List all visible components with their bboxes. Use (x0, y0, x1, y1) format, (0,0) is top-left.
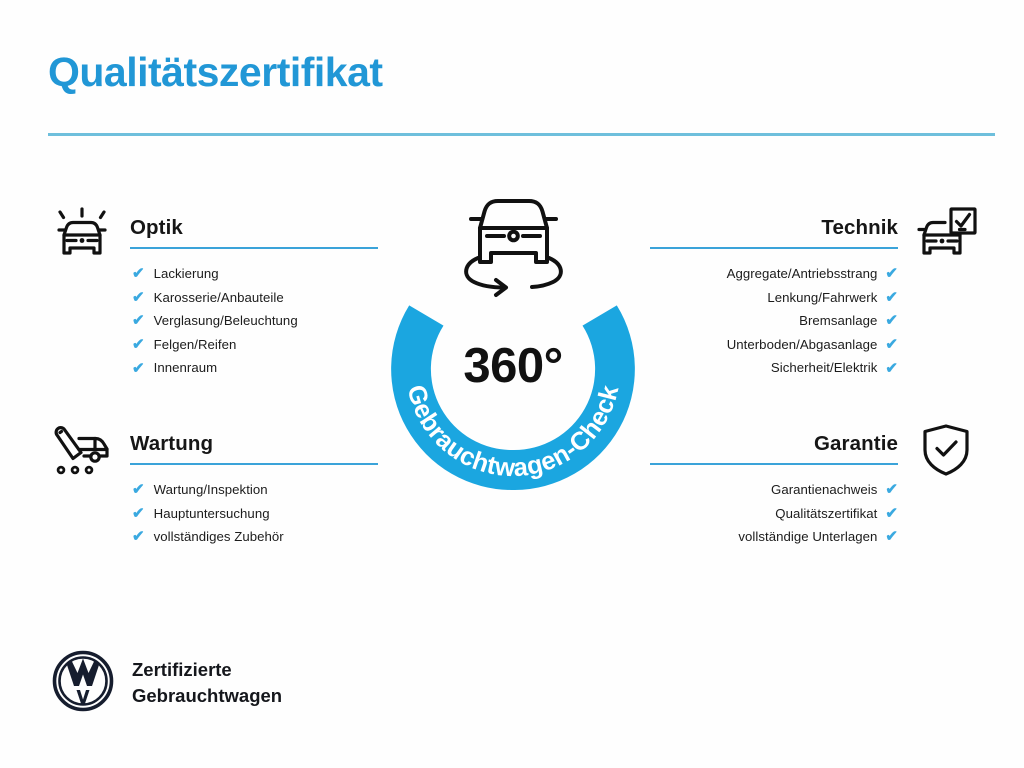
check-icon: ✔ (132, 266, 145, 281)
check-icon: ✔ (885, 313, 898, 328)
page-title: Qualitätszertifikat (48, 50, 383, 95)
list-item-label: vollständige Unterlagen (738, 525, 877, 549)
gebrauchtwagen-check-badge: Gebrauchtwagen-Check 360° (374, 190, 652, 490)
list-item-label: Bremsanlage (799, 309, 877, 333)
footer-logo: Zertifizierte Gebrauchtwagen (52, 650, 452, 724)
list-item-label: Wartung/Inspektion (154, 478, 268, 502)
check-icon: ✔ (885, 482, 898, 497)
check-icon: ✔ (132, 482, 145, 497)
list-item-label: Qualitätszertifikat (775, 502, 877, 526)
section-title: Optik (130, 216, 183, 240)
section-divider (130, 463, 378, 465)
footer-line-2: Gebrauchtwagen (132, 683, 282, 709)
list-item-label: Garantienachweis (771, 478, 877, 502)
footer-line-1: Zertifizierte (132, 657, 282, 683)
car-checkbox-icon (910, 204, 982, 264)
check-icon: ✔ (885, 337, 898, 352)
check-icon: ✔ (132, 529, 145, 544)
badge-value: 360° (374, 338, 652, 394)
check-icon: ✔ (132, 361, 145, 376)
list-item-label: Hauptuntersuchung (154, 502, 270, 526)
section-divider (130, 247, 378, 249)
car-service-tool-icon (46, 420, 118, 480)
list-item-label: Unterboden/Abgasanlage (727, 333, 878, 357)
check-icon: ✔ (885, 290, 898, 305)
list-item: ✔Hauptuntersuchung (132, 502, 460, 526)
footer-text: Zertifizierte Gebrauchtwagen (132, 657, 282, 709)
check-icon: ✔ (132, 337, 145, 352)
list-item-label: Aggregate/Antriebsstrang (727, 262, 878, 286)
header-divider (48, 133, 995, 136)
list-item-label: Lackierung (154, 262, 219, 286)
list-item-label: Lenkung/Fahrwerk (767, 286, 877, 310)
check-icon: ✔ (132, 290, 145, 305)
car-shine-icon (46, 204, 118, 264)
section-title: Garantie (814, 432, 898, 456)
section-divider (650, 463, 898, 465)
section-title: Technik (821, 216, 898, 240)
list-item-label: Karosserie/Anbauteile (154, 286, 284, 310)
list-item-label: Innenraum (154, 356, 218, 380)
check-icon: ✔ (885, 506, 898, 521)
check-icon: ✔ (885, 266, 898, 281)
list-item-label: Sicherheit/Elektrik (771, 356, 878, 380)
check-icon: ✔ (132, 313, 145, 328)
list-item: Qualitätszertifikat✔ (570, 502, 898, 526)
car-rotate-icon (456, 190, 571, 298)
check-icon: ✔ (885, 361, 898, 376)
check-icon: ✔ (132, 506, 145, 521)
section-divider (650, 247, 898, 249)
list-item-label: Verglasung/Beleuchtung (154, 309, 298, 333)
vw-logo-icon (52, 650, 114, 712)
shield-check-icon (910, 420, 982, 480)
list-item: vollständige Unterlagen✔ (570, 525, 898, 549)
list-item-label: vollständiges Zubehör (154, 525, 284, 549)
section-title: Wartung (130, 432, 213, 456)
check-icon: ✔ (885, 529, 898, 544)
list-item: ✔vollständiges Zubehör (132, 525, 460, 549)
certificate-page: Qualitätszertifikat (0, 0, 1024, 768)
list-item-label: Felgen/Reifen (154, 333, 237, 357)
